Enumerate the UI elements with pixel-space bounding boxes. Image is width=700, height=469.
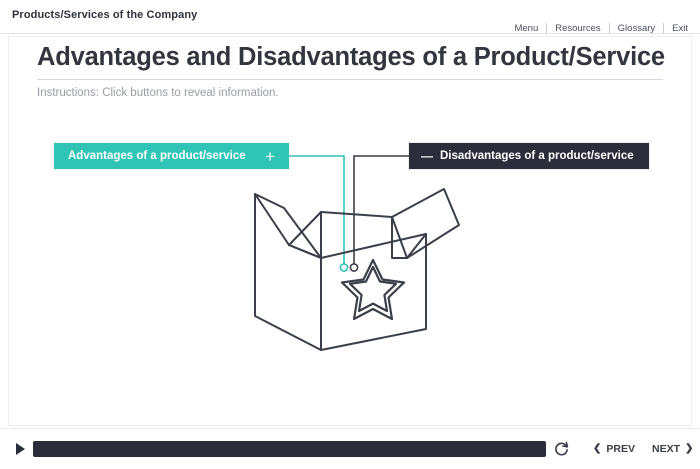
advantages-reveal-button[interactable]: Advantages of a product/service + xyxy=(54,143,289,169)
nav-link-exit[interactable]: Exit xyxy=(664,23,690,34)
prev-button-label: PREV xyxy=(606,443,635,455)
play-icon[interactable] xyxy=(16,443,25,455)
box-front-panel xyxy=(321,234,426,350)
player-bar: ❮ PREV NEXT ❯ xyxy=(0,428,700,469)
next-button[interactable]: NEXT ❯ xyxy=(652,443,693,455)
next-button-label: NEXT xyxy=(652,443,680,455)
minus-icon: — xyxy=(421,150,433,162)
replay-icon[interactable] xyxy=(553,441,570,458)
title-divider xyxy=(37,79,663,80)
disadvantages-button-label: Disadvantages of a product/service xyxy=(440,150,634,162)
page-title: Advantages and Disadvantages of a Produc… xyxy=(37,43,667,72)
course-player-frame: Products/Services of the Company Menu Re… xyxy=(0,0,700,469)
course-title: Products/Services of the Company xyxy=(12,9,197,21)
chevron-left-icon: ❮ xyxy=(593,444,601,454)
advantages-button-label: Advantages of a product/service xyxy=(68,150,246,162)
instructions-text: Instructions: Click buttons to reveal in… xyxy=(37,87,279,99)
slide-stage: Advantages and Disadvantages of a Produc… xyxy=(8,36,692,426)
disadvantages-reveal-button[interactable]: — Disadvantages of a product/service xyxy=(409,143,649,169)
box-flap-left xyxy=(255,194,321,258)
open-box-illustration xyxy=(249,172,479,372)
nav-link-glossary[interactable]: Glossary xyxy=(610,23,663,34)
plus-icon: + xyxy=(265,148,275,165)
nav-link-resources[interactable]: Resources xyxy=(547,23,608,34)
nav-link-menu[interactable]: Menu xyxy=(506,23,546,34)
box-side-left xyxy=(255,194,321,350)
box-inner-rim-top xyxy=(289,212,392,245)
top-navigation: Menu Resources Glossary Exit xyxy=(506,22,690,34)
progress-bar-fill xyxy=(33,441,546,457)
prev-button[interactable]: ❮ PREV xyxy=(593,443,635,455)
top-bar: Products/Services of the Company Menu Re… xyxy=(0,0,700,34)
progress-bar-track[interactable] xyxy=(33,441,546,457)
chevron-right-icon: ❯ xyxy=(685,444,693,454)
